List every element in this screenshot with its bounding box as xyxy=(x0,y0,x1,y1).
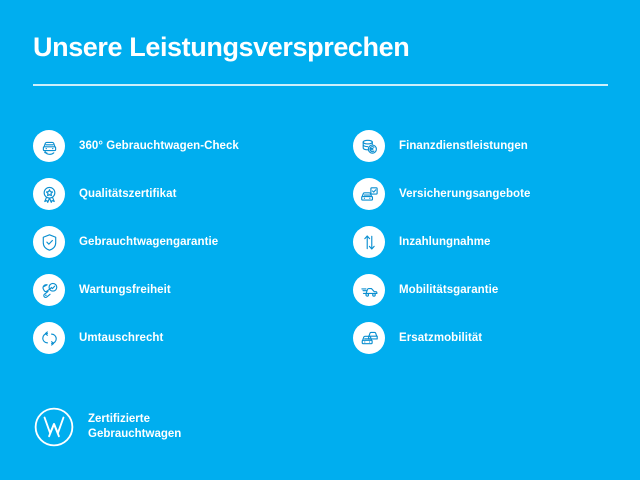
shield-check-icon xyxy=(33,226,65,258)
two-cars-icon xyxy=(353,322,385,354)
title-divider xyxy=(33,84,608,86)
list-item: Umtauschrecht xyxy=(33,314,320,362)
exchange-arrows-icon xyxy=(33,322,65,354)
list-item-label: Inzahlungnahme xyxy=(399,236,490,248)
coins-euro-icon xyxy=(353,130,385,162)
list-item: Wartungsfreiheit xyxy=(33,266,320,314)
car-insurance-document-icon xyxy=(353,178,385,210)
promises-column-right: Finanzdienstleistungen Versicherungsang xyxy=(320,122,640,362)
list-item: Gebrauchtwagengarantie xyxy=(33,218,320,266)
list-item-label: Finanzdienstleistungen xyxy=(399,140,528,152)
promises-slide: Unsere Leistungsversprechen xyxy=(0,0,640,480)
car-360-check-icon xyxy=(33,130,65,162)
list-item-label: Mobilitätsgarantie xyxy=(399,284,498,296)
arrows-up-down-icon xyxy=(353,226,385,258)
page-title: Unsere Leistungsversprechen xyxy=(33,32,409,63)
promises-column-left: 360° Gebrauchtwagen-Check Qualitätszerti… xyxy=(0,122,320,362)
list-item-label: Wartungsfreiheit xyxy=(79,284,171,296)
list-item-label: Gebrauchtwagengarantie xyxy=(79,236,218,248)
quality-award-rosette-icon xyxy=(33,178,65,210)
list-item: Finanzdienstleistungen xyxy=(353,122,640,170)
brand-lockup: Zertifizierte Gebrauchtwagen xyxy=(33,406,181,448)
tow-van-icon xyxy=(353,274,385,306)
brand-line-1: Zertifizierte xyxy=(88,412,181,427)
list-item-label: 360° Gebrauchtwagen-Check xyxy=(79,140,239,152)
list-item: Versicherungsangebote xyxy=(353,170,640,218)
list-item-label: Qualitätszertifikat xyxy=(79,188,176,200)
volkswagen-logo xyxy=(33,406,75,448)
brand-text: Zertifizierte Gebrauchtwagen xyxy=(88,412,181,442)
list-item: Qualitätszertifikat xyxy=(33,170,320,218)
list-item: Mobilitätsgarantie xyxy=(353,266,640,314)
brand-line-2: Gebrauchtwagen xyxy=(88,427,181,442)
list-item-label: Ersatzmobilität xyxy=(399,332,482,344)
list-item: Inzahlungnahme xyxy=(353,218,640,266)
list-item: Ersatzmobilität xyxy=(353,314,640,362)
promises-columns: 360° Gebrauchtwagen-Check Qualitätszerti… xyxy=(0,122,640,362)
wrench-check-icon xyxy=(33,274,65,306)
list-item: 360° Gebrauchtwagen-Check xyxy=(33,122,320,170)
list-item-label: Versicherungsangebote xyxy=(399,188,530,200)
list-item-label: Umtauschrecht xyxy=(79,332,163,344)
